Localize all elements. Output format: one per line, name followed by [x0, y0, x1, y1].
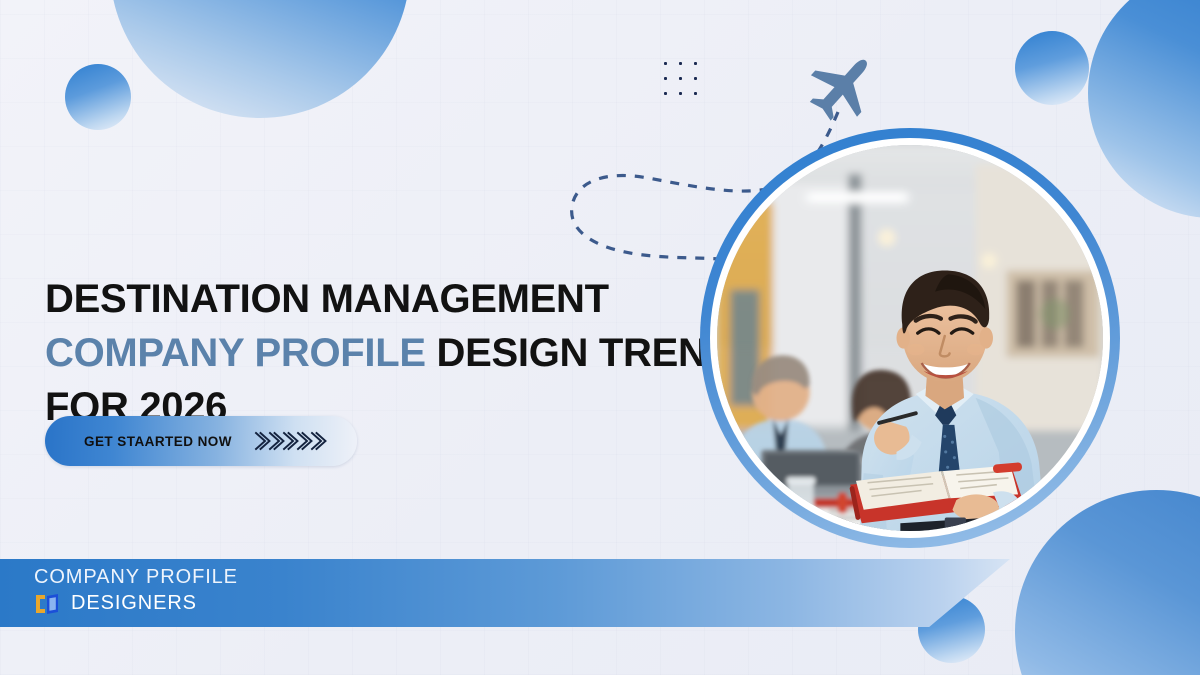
- page-title: DESTINATION MANAGEMENT COMPANY PROFILE D…: [45, 272, 725, 434]
- headline-accent-text: COMPANY PROFILE: [45, 331, 426, 375]
- dot-grid-icon: [657, 55, 709, 107]
- airplane-icon: [797, 40, 889, 132]
- brand-logo[interactable]: COMPANY PROFILE DESIGNERS: [34, 565, 238, 616]
- office-businessman-illustration: [717, 145, 1103, 531]
- headline-line-2: COMPANY PROFILE DESIGN TRENDS: [45, 326, 725, 380]
- double-chevron-right-icon: [254, 428, 334, 454]
- decorative-circle-top-left-small: [65, 64, 131, 130]
- decorative-circle-top-right-small: [1015, 31, 1089, 105]
- brand-name-line-2: DESIGNERS: [71, 591, 197, 616]
- get-started-button-label: GET STAARTED NOW: [84, 434, 232, 449]
- get-started-button[interactable]: GET STAARTED NOW: [45, 416, 357, 466]
- hero-photo-inner-gap: [710, 138, 1110, 538]
- decorative-circle-bottom-right-large: [1015, 490, 1200, 675]
- decorative-circle-top-right-large: [1088, 0, 1200, 218]
- slide-canvas: DESTINATION MANAGEMENT COMPANY PROFILE D…: [0, 0, 1200, 675]
- brand-name-line-1: COMPANY PROFILE: [34, 565, 238, 590]
- hero-photo-ring: [700, 128, 1120, 548]
- hero-photo: [717, 145, 1103, 531]
- open-book-icon: [34, 592, 60, 616]
- decorative-circle-top-left-large: [110, 0, 410, 118]
- headline-line-1: DESTINATION MANAGEMENT: [45, 272, 725, 326]
